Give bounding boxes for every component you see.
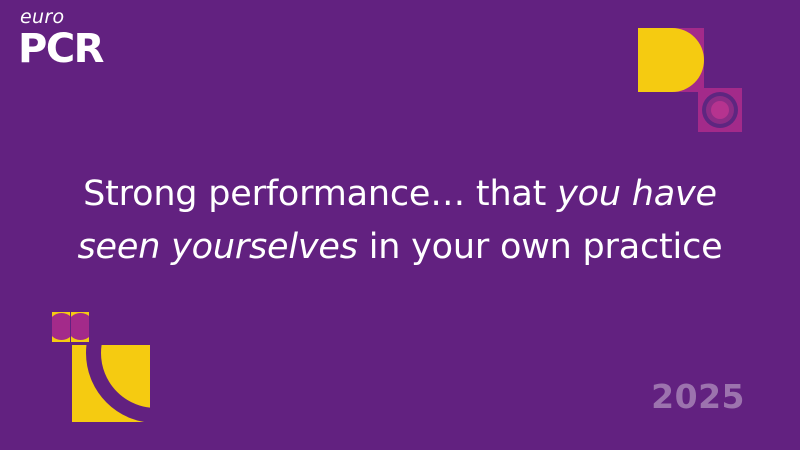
headline-line-2-plain: in your own practice [358, 227, 723, 267]
magenta-half-disc-icon-2 [71, 313, 89, 340]
yellow-rectangle-shape [638, 28, 671, 92]
large-yellow-square-shape [72, 345, 150, 422]
brand-mark-bottom-left [52, 312, 172, 422]
concentric-circles-square [698, 88, 742, 132]
slide-canvas: euro PCR Strong performance… that you ha… [0, 0, 800, 450]
ring-inner-icon [711, 101, 729, 119]
europcr-logo: euro PCR [18, 6, 178, 78]
brand-mark-top-right [638, 28, 742, 128]
year-label: 2025 [651, 379, 745, 415]
headline-line-1-plain: Strong performance… that [83, 174, 557, 214]
headline-line-2: seen yourselves in your own practice [40, 221, 760, 274]
logo-pcr-text: PCR [18, 28, 178, 70]
magenta-half-disc-icon-1 [52, 313, 70, 340]
logo-euro-text: euro [20, 6, 178, 28]
small-square-shape-1 [52, 312, 70, 342]
headline-line-2-italic: seen yourselves [78, 227, 358, 267]
purple-arc-shape [86, 345, 150, 422]
small-square-shape-2 [71, 312, 89, 342]
headline-line-1: Strong performance… that you have [40, 168, 760, 221]
slide-headline: Strong performance… that you have seen y… [40, 168, 760, 274]
headline-line-1-italic: you have [557, 174, 717, 214]
yellow-half-disc-icon [671, 28, 704, 92]
magenta-square-shape [671, 28, 704, 92]
